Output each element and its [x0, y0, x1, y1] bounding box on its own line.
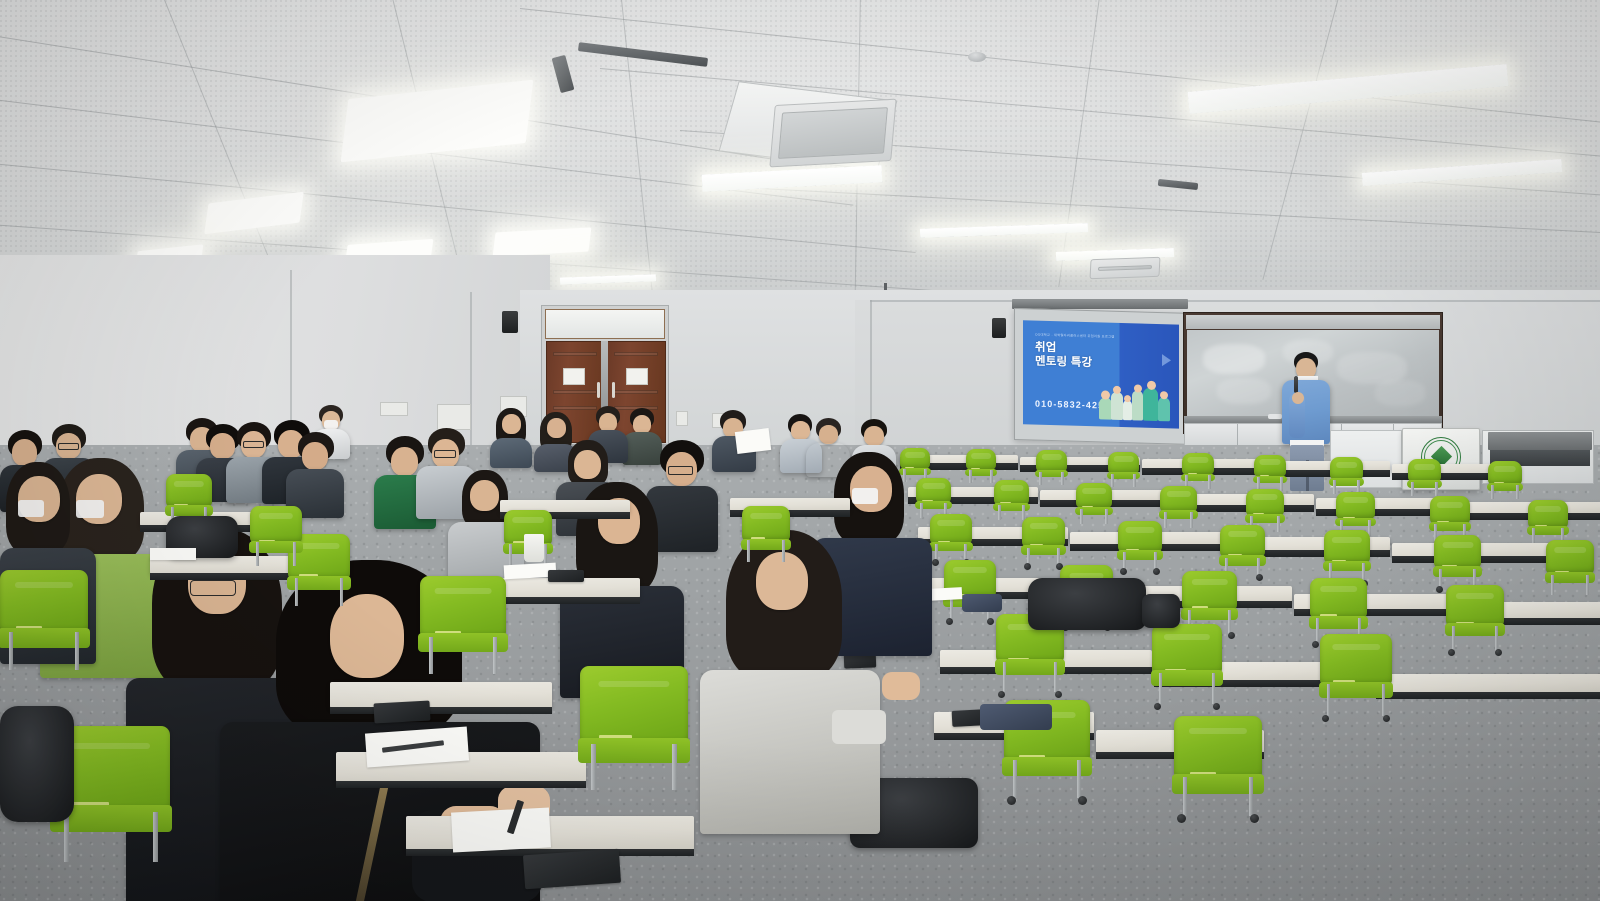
chair — [1036, 450, 1067, 485]
chair — [1324, 530, 1370, 583]
chair — [1330, 457, 1363, 494]
chair — [1182, 453, 1214, 489]
chair — [1174, 716, 1262, 816]
pencil-pouch — [980, 704, 1052, 730]
chair — [1254, 455, 1286, 491]
wall-band — [870, 300, 1600, 302]
chair — [1220, 525, 1265, 577]
backpack — [0, 706, 74, 822]
paper-cup — [524, 534, 544, 562]
chair — [1408, 459, 1441, 496]
desk — [330, 682, 552, 708]
student-hand — [882, 672, 920, 700]
chair — [0, 570, 88, 670]
wall-speaker-icon — [502, 311, 518, 333]
wall-speaker-icon-right — [992, 318, 1006, 338]
wall-outlet-panel — [437, 404, 471, 430]
projection-screen: OO대학교 · 대학일자리플러스센터 취업지원 프로그램 취업 멘토링 특강 0… — [1014, 308, 1186, 445]
projected-slide: OO대학교 · 대학일자리플러스센터 취업지원 프로그램 취업 멘토링 특강 0… — [1023, 320, 1179, 428]
handout-paper — [928, 587, 963, 601]
chair — [250, 506, 302, 566]
wall-switch-plate — [676, 411, 688, 426]
chair — [1320, 634, 1392, 716]
smartphone — [523, 849, 621, 890]
chair — [1528, 500, 1568, 545]
projection-screen-housing — [1012, 299, 1188, 309]
microphone-icon — [1294, 376, 1298, 393]
backpack — [1142, 594, 1180, 628]
chair — [1546, 540, 1594, 595]
backpack — [1028, 578, 1146, 630]
pencil-pouch — [962, 594, 1002, 612]
chair — [742, 506, 790, 562]
chair — [1076, 483, 1112, 524]
desk — [1376, 674, 1600, 693]
chair — [1160, 486, 1197, 528]
chair — [1434, 535, 1481, 589]
slide-arrow-icon — [1162, 354, 1171, 366]
chair — [420, 576, 506, 674]
slide-title: 취업 멘토링 특강 — [1035, 342, 1092, 371]
chair — [1488, 461, 1522, 499]
desk — [1488, 602, 1600, 619]
smartphone — [374, 701, 431, 724]
chair — [1108, 452, 1139, 487]
ceiling-ac-cassette — [769, 99, 896, 168]
chair — [1152, 624, 1222, 704]
av-console-lid — [1488, 432, 1592, 450]
smartphone — [548, 570, 584, 582]
ceiling-ac-cassette-2 — [1089, 257, 1160, 279]
student — [286, 432, 344, 516]
chair — [580, 666, 688, 790]
smoke-detector-icon — [968, 52, 986, 62]
presenter-hand — [1292, 392, 1304, 404]
student — [700, 530, 880, 830]
handout-paper — [451, 807, 551, 852]
chair — [966, 449, 996, 483]
slide-title-line2: 멘토링 특강 — [1035, 355, 1092, 369]
chair — [1118, 521, 1162, 571]
slide-people-illustration — [1097, 372, 1175, 424]
chair — [930, 514, 972, 562]
handout-paper — [735, 428, 771, 454]
chair — [1446, 585, 1504, 651]
lecture-hall-photo: OO대학교 · 대학일자리플러스센터 취업지원 프로그램 취업 멘토링 특강 0… — [0, 0, 1600, 901]
chair — [1022, 517, 1065, 566]
slide-title-line1: 취업 — [1035, 342, 1057, 355]
student-arm — [832, 710, 886, 744]
whiteboard-top-rail — [1186, 315, 1440, 329]
door-transom-window — [545, 309, 665, 339]
student — [490, 408, 532, 466]
handout-paper — [150, 548, 196, 560]
chair — [994, 480, 1029, 520]
slide-tagline: OO대학교 · 대학일자리플러스센터 취업지원 프로그램 — [1035, 332, 1115, 339]
wall-control-panel — [380, 402, 408, 416]
